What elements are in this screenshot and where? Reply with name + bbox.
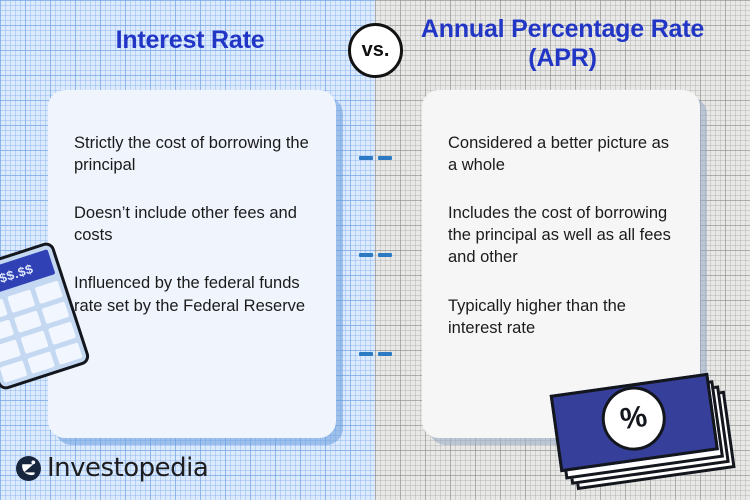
calculator-key xyxy=(0,319,14,342)
calculator-key xyxy=(0,339,21,362)
list-item: Considered a better picture as a whole xyxy=(448,132,680,176)
list-item: Doesn’t include other fees and costs xyxy=(74,202,316,246)
dash-mark xyxy=(359,253,373,257)
separator-dashes-row-3 xyxy=(359,352,392,356)
list-item: Influenced by the federal funds rate set… xyxy=(74,272,316,316)
interest-rate-card: Strictly the cost of borrowing the princ… xyxy=(48,90,336,438)
list-item: Strictly the cost of borrowing the princ… xyxy=(74,132,316,176)
calculator-key xyxy=(14,310,42,333)
dash-mark xyxy=(378,156,392,160)
calculator-key xyxy=(0,298,8,321)
dash-mark xyxy=(378,253,392,257)
investopedia-logo-mark-icon xyxy=(16,456,41,481)
dash-mark xyxy=(359,156,373,160)
interest-rate-card-list: Strictly the cost of borrowing the princ… xyxy=(74,132,316,317)
calculator-key xyxy=(20,330,48,353)
left-column-title: Interest Rate xyxy=(30,26,350,55)
calculator-key xyxy=(41,301,69,324)
right-column-title: Annual Percentage Rate (APR) xyxy=(400,15,725,73)
dash-mark xyxy=(359,352,373,356)
calculator-key xyxy=(48,321,76,344)
list-item: Typically higher than the interest rate xyxy=(448,295,680,339)
separator-dashes-row-2 xyxy=(359,253,392,257)
infographic-canvas: Interest Rate Annual Percentage Rate (AP… xyxy=(0,0,750,500)
versus-badge: vs. xyxy=(348,23,403,78)
dash-mark xyxy=(378,352,392,356)
versus-badge-label: vs. xyxy=(362,39,390,62)
apr-card-list: Considered a better picture as a whole I… xyxy=(448,132,680,339)
separator-dashes-row-1 xyxy=(359,156,392,160)
investopedia-logo[interactable]: Investopedia xyxy=(16,455,208,481)
investopedia-logo-text: Investopedia xyxy=(47,455,208,481)
list-item: Includes the cost of borrowing the princ… xyxy=(448,202,680,268)
